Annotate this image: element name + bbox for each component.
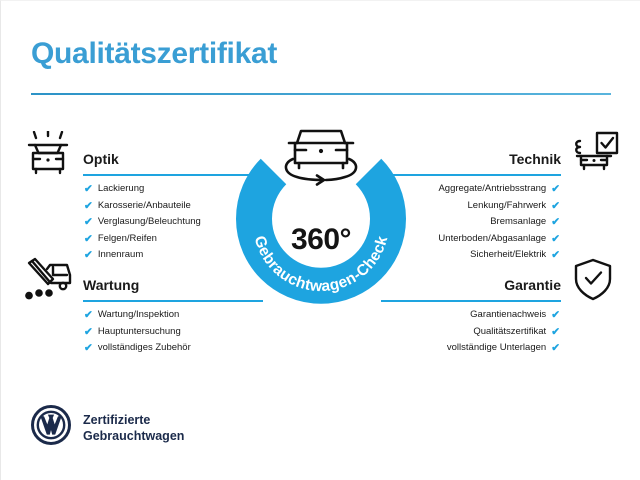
vw-footer-text: Zertifizierte Gebrauchtwagen [83, 412, 184, 444]
badge-ring-svg: Gebrauchtwagen-Check [223, 119, 419, 315]
list-item: ✔Lackierung [84, 181, 201, 198]
list-item-label: Lenkung/Fahrwerk [468, 198, 547, 215]
check-icon: ✔ [551, 343, 560, 354]
vw-footer-line2: Gebrauchtwagen [83, 428, 184, 444]
list-item: ✔Wartung/Inspektion [84, 307, 191, 324]
list-item: Aggregate/Antriebsstrang✔ [438, 181, 560, 198]
check-icon: ✔ [84, 217, 93, 228]
badge-360-gebrauchtwagen-check: Gebrauchtwagen-Check 360° [223, 119, 419, 315]
certificate-canvas: Qualitätszertifikat Optik ✔Lackierung ✔K… [0, 0, 640, 480]
check-icon: ✔ [551, 310, 560, 321]
check-icon: ✔ [551, 217, 560, 228]
check-icon: ✔ [551, 250, 560, 261]
list-item: ✔vollständiges Zubehör [84, 340, 191, 357]
section-heading-garantie: Garantie [504, 277, 561, 293]
check-icon: ✔ [84, 184, 93, 195]
checklist-garantie: Garantienachweis✔ Qualitätszertifikat✔ v… [447, 307, 560, 357]
list-item-label: Garantienachweis [470, 307, 546, 324]
list-item-label: Sicherheit/Elektrik [470, 247, 546, 264]
section-heading-wartung: Wartung [83, 277, 139, 293]
check-icon: ✔ [84, 201, 93, 212]
check-icon: ✔ [84, 310, 93, 321]
list-item-label: vollständiges Zubehör [98, 340, 191, 357]
list-item-label: Hauptuntersuchung [98, 324, 181, 341]
check-icon: ✔ [84, 250, 93, 261]
car-checkbox-icon [569, 131, 619, 182]
vw-footer: Zertifizierte Gebrauchtwagen [31, 405, 184, 450]
list-item: ✔Felgen/Reifen [84, 231, 201, 248]
badge-center-label: 360° [223, 223, 419, 257]
section-heading-optik: Optik [83, 151, 119, 167]
list-item: ✔Innenraum [84, 247, 201, 264]
list-item: Unterboden/Abgasanlage✔ [438, 231, 560, 248]
vw-logo [31, 405, 71, 450]
car-service-pencil-icon [23, 257, 73, 308]
checklist-optik: ✔Lackierung ✔Karosserie/Anbauteile ✔Verg… [84, 181, 201, 264]
vw-footer-line1: Zertifizierte [83, 412, 184, 428]
list-item: Qualitätszertifikat✔ [447, 324, 560, 341]
check-icon: ✔ [551, 184, 560, 195]
list-item: Bremsanlage✔ [438, 214, 560, 231]
check-icon: ✔ [84, 343, 93, 354]
list-item-label: Lackierung [98, 181, 144, 198]
checklist-technik: Aggregate/Antriebsstrang✔ Lenkung/Fahrwe… [438, 181, 560, 264]
list-item: Lenkung/Fahrwerk✔ [438, 198, 560, 215]
check-icon: ✔ [84, 234, 93, 245]
title-divider [31, 93, 611, 95]
page-title: Qualitätszertifikat [31, 37, 277, 71]
car-rotation-icon [286, 131, 356, 185]
list-item: Sicherheit/Elektrik✔ [438, 247, 560, 264]
list-item: ✔Verglasung/Beleuchtung [84, 214, 201, 231]
list-item: ✔Hauptuntersuchung [84, 324, 191, 341]
list-item: ✔Karosserie/Anbauteile [84, 198, 201, 215]
list-item-label: Qualitätszertifikat [473, 324, 546, 341]
checklist-wartung: ✔Wartung/Inspektion ✔Hauptuntersuchung ✔… [84, 307, 191, 357]
section-heading-technik: Technik [509, 151, 561, 167]
car-front-shine-icon [23, 131, 73, 182]
check-icon: ✔ [551, 201, 560, 212]
check-icon: ✔ [551, 234, 560, 245]
check-icon: ✔ [84, 327, 93, 338]
check-icon: ✔ [551, 327, 560, 338]
list-item-label: Wartung/Inspektion [98, 307, 180, 324]
list-item-label: vollständige Unterlagen [447, 340, 546, 357]
list-item-label: Verglasung/Beleuchtung [98, 214, 201, 231]
list-item: Garantienachweis✔ [447, 307, 560, 324]
list-item-label: Bremsanlage [490, 214, 546, 231]
shield-check-icon [571, 257, 615, 308]
list-item-label: Karosserie/Anbauteile [98, 198, 191, 215]
list-item: vollständige Unterlagen✔ [447, 340, 560, 357]
list-item-label: Felgen/Reifen [98, 231, 157, 248]
list-item-label: Aggregate/Antriebsstrang [438, 181, 546, 198]
list-item-label: Innenraum [98, 247, 143, 264]
list-item-label: Unterboden/Abgasanlage [438, 231, 546, 248]
